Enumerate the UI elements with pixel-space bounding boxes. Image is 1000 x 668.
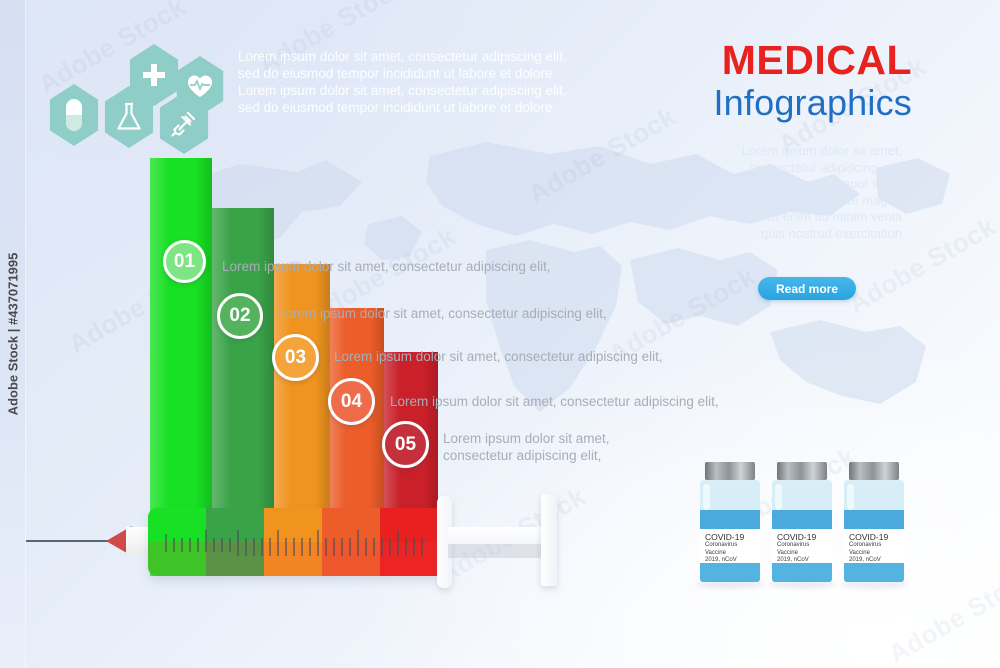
stock-watermark-id: Adobe Stock | #437071995: [5, 253, 20, 416]
vial-band-top: [772, 510, 832, 529]
stock-watermark-bar: Adobe Stock | #437071995: [0, 0, 26, 668]
vial-label: COVID-19 Coronavirus Vaccine 2019, nCoV: [844, 529, 904, 563]
step-text-04[interactable]: Lorem ipsum dolor sit amet, consectetur …: [390, 393, 720, 410]
read-more-button[interactable]: Read more: [758, 277, 856, 300]
step-badge-03[interactable]: 03: [272, 334, 319, 381]
step-badge-04[interactable]: 04: [328, 378, 375, 425]
vial-label: COVID-19 Coronavirus Vaccine 2019, nCoV: [700, 529, 760, 563]
barrel-segment: [148, 508, 206, 576]
step-badge-01[interactable]: 01: [163, 240, 206, 283]
vial-label-line2: Coronavirus Vaccine: [849, 542, 900, 557]
vial-band-bottom: [700, 563, 760, 582]
medical-icon-cluster: [46, 44, 226, 148]
plunger-rod-shadow: [448, 544, 544, 558]
infographic-canvas: Adobe Stock Adobe Stock Adobe Stock Adob…: [0, 0, 1000, 668]
watermark-tile: Adobe Stock: [523, 101, 681, 210]
step-text-05[interactable]: Lorem ipsum dolor sit amet, consectetur …: [443, 430, 618, 464]
vial-cap: [705, 462, 755, 480]
barrel-segment: [206, 508, 264, 576]
vial-body: COVID-19 Coronavirus Vaccine 2019, nCoV: [772, 480, 832, 582]
intro-line: dunt ut labore et dolore magna: [692, 193, 902, 210]
vial-highlight: [847, 484, 854, 510]
header-paragraph: Lorem ipsum dolor sit amet, consectetur …: [238, 48, 578, 116]
vial-body: COVID-19 Coronavirus Vaccine 2019, nCoV: [844, 480, 904, 582]
intro-line: quis nostrud exercitation: [692, 226, 902, 243]
vial-label-line1: COVID-19: [849, 532, 900, 542]
step-text-03[interactable]: Lorem ipsum dolor sit amet, consectetur …: [334, 348, 664, 365]
intro-line: aliqua. Ut enim ad minim venia: [692, 209, 902, 226]
vial-cap: [849, 462, 899, 480]
vaccine-vial[interactable]: COVID-19 Coronavirus Vaccine 2019, nCoV: [700, 462, 760, 582]
vial-band-bottom: [844, 563, 904, 582]
barrel-segment: [322, 508, 380, 576]
page-title-primary: MEDICAL: [722, 37, 912, 84]
header-paragraph-line: sed do eiusmod tempor incididunt ut labo…: [238, 65, 578, 82]
vial-highlight: [775, 484, 782, 510]
intro-line: consectetur adipiscing elit,: [692, 160, 902, 177]
needle-collar[interactable]: [126, 527, 148, 556]
pill-capsule-icon: [46, 84, 102, 146]
vaccine-vial-group: COVID-19 Coronavirus Vaccine 2019, nCoV …: [700, 462, 906, 582]
step-text-02[interactable]: Lorem ipsum dolor sit amet, consectetur …: [278, 305, 608, 322]
step-badge-05[interactable]: 05: [382, 421, 429, 468]
intro-line: Lorem ipsum dolor sit amet,: [692, 143, 902, 160]
plunger-rod[interactable]: [448, 527, 548, 544]
vaccine-vial[interactable]: COVID-19 Coronavirus Vaccine 2019, nCoV: [844, 462, 904, 582]
vial-label-line2: Coronavirus Vaccine: [777, 542, 828, 557]
plunger-thumb-rest[interactable]: [541, 494, 557, 586]
vial-band-top: [844, 510, 904, 529]
intro-line: sed do eiusmod tempor incidi: [692, 176, 902, 193]
vial-label-line1: COVID-19: [705, 532, 756, 542]
vial-cap: [777, 462, 827, 480]
vial-label: COVID-19 Coronavirus Vaccine 2019, nCoV: [772, 529, 832, 563]
header-paragraph-line: Lorem ipsum dolor sit amet, consectetur …: [238, 48, 578, 65]
header-paragraph-line: Lorem ipsum dolor sit amet, consectetur …: [238, 82, 578, 99]
step-text-01[interactable]: Lorem ipsum dolor sit amet, consectetur …: [222, 258, 552, 275]
vial-band-top: [700, 510, 760, 529]
vial-highlight: [703, 484, 710, 510]
vial-label-line1: COVID-19: [777, 532, 828, 542]
vial-body: COVID-19 Coronavirus Vaccine 2019, nCoV: [700, 480, 760, 582]
page-title-secondary: Infographics: [713, 82, 912, 124]
intro-paragraph: Lorem ipsum dolor sit amet, consectetur …: [692, 143, 902, 243]
vial-band-bottom: [772, 563, 832, 582]
barrel-segment: [380, 508, 438, 576]
step-badge-02[interactable]: 02: [217, 293, 263, 339]
syringe-barrel[interactable]: [148, 508, 438, 576]
needle-shaft: [12, 540, 108, 542]
barrel-segment: [264, 508, 322, 576]
vaccine-vial[interactable]: COVID-19 Coronavirus Vaccine 2019, nCoV: [772, 462, 832, 582]
header-paragraph-line: sed do eiusmod tempor incididunt ut labo…: [238, 99, 578, 116]
vial-label-line2: Coronavirus Vaccine: [705, 542, 756, 557]
